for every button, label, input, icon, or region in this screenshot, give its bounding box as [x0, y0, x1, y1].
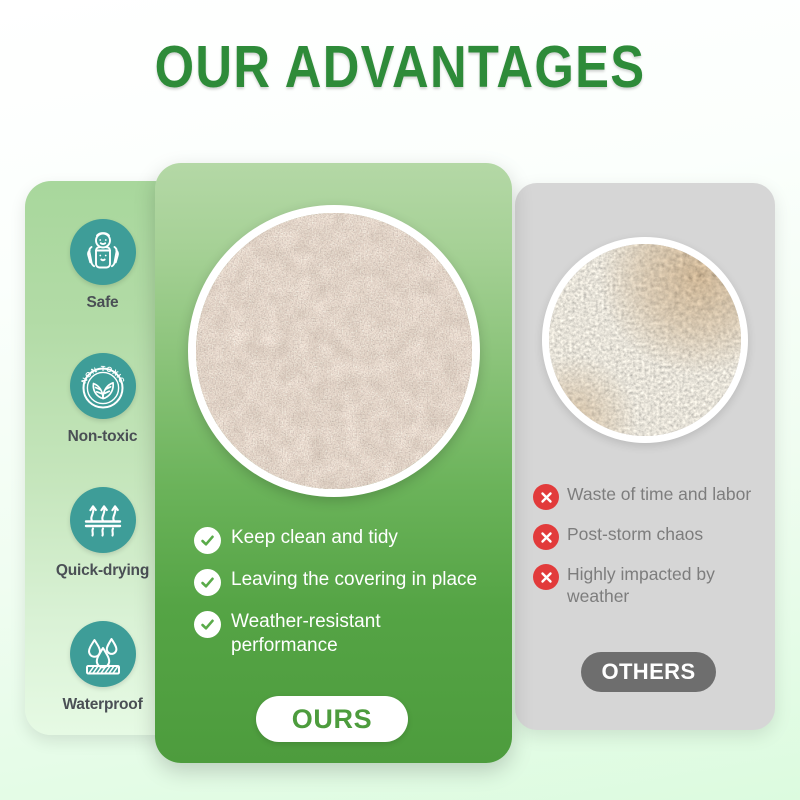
drawback-text: Post-storm chaos — [567, 523, 703, 545]
drawback-row: Highly impacted by weather — [533, 563, 773, 608]
fine-gravel-photo — [188, 205, 480, 497]
feature-row: Leaving the covering in place — [194, 568, 499, 596]
feature-row: Weather-resistant performance — [194, 610, 499, 658]
quick-drying-airflow-icon — [70, 487, 136, 553]
svg-text:NON TOXIC: NON TOXIC — [79, 364, 127, 385]
cross-icon — [533, 524, 559, 550]
page-title: OUR ADVANTAGES — [56, 33, 744, 101]
drawback-text: Waste of time and labor — [567, 483, 751, 505]
others-badge: OTHERS — [581, 652, 716, 692]
check-icon — [194, 527, 221, 554]
check-icon — [194, 569, 221, 596]
feature-text: Keep clean and tidy — [231, 526, 398, 550]
ours-card: Keep clean and tidy Leaving the covering… — [155, 163, 512, 763]
non-toxic-badge-text: NON TOXIC — [79, 364, 127, 385]
non-toxic-leaf-icon: NON TOXIC — [70, 353, 136, 419]
feature-row: Keep clean and tidy — [194, 526, 499, 554]
feature-text: Leaving the covering in place — [231, 568, 477, 592]
cross-icon — [533, 564, 559, 590]
ours-feature-list: Keep clean and tidy Leaving the covering… — [194, 526, 499, 672]
others-drawback-list: Waste of time and labor Post-storm chaos… — [533, 483, 773, 621]
baby-pet-safe-icon — [70, 219, 136, 285]
feature-text: Weather-resistant performance — [231, 610, 489, 658]
coarse-rocks-dirt-photo — [542, 237, 748, 443]
drawback-row: Post-storm chaos — [533, 523, 773, 550]
ours-badge: OURS — [256, 696, 408, 742]
others-card: Waste of time and labor Post-storm chaos… — [515, 183, 775, 730]
check-icon — [194, 611, 221, 638]
cross-icon — [533, 484, 559, 510]
drawback-text: Highly impacted by weather — [567, 563, 765, 608]
drawback-row: Waste of time and labor — [533, 483, 773, 510]
waterproof-droplets-icon — [70, 621, 136, 687]
